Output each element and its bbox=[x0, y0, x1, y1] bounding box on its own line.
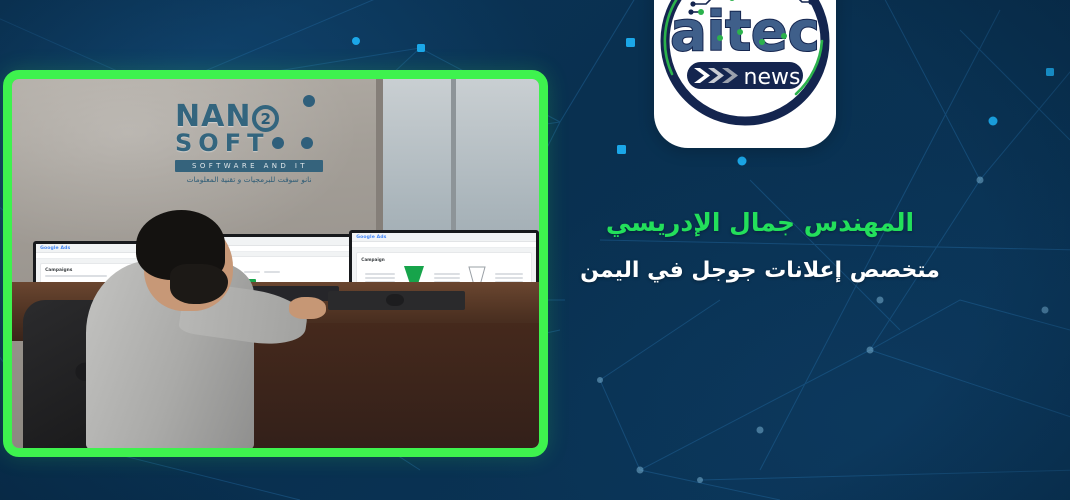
google-ads-logo-left: Google Ads bbox=[40, 246, 70, 251]
nano-soft-digit: 2 bbox=[260, 110, 270, 128]
presenter-subtitle: متخصص إعلانات جوجل في اليمن bbox=[560, 256, 960, 287]
aitec-wordmark: aitec bbox=[670, 0, 819, 63]
computer-mouse bbox=[386, 294, 404, 306]
nano-soft-wall-logo: NAN 2 SOFT SOFTWARE AND IT نانو سوفت للب… bbox=[175, 103, 325, 184]
headline-block: المهندس جمال الإدريسي متخصص إعلانات جوجل… bbox=[560, 206, 960, 287]
nano-soft-word-1: NAN bbox=[175, 103, 251, 131]
google-ads-logo-right: Google Ads bbox=[356, 235, 386, 240]
person-hand bbox=[289, 297, 326, 319]
aitec-news-logo: aitec news bbox=[654, 0, 836, 148]
promo-banner: NAN 2 SOFT SOFTWARE AND IT نانو سوفت للب… bbox=[0, 0, 1070, 500]
right-monitor-section: Campaign bbox=[361, 257, 527, 262]
office-photo: NAN 2 SOFT SOFTWARE AND IT نانو سوفت للب… bbox=[12, 79, 539, 448]
photo-frame: NAN 2 SOFT SOFTWARE AND IT نانو سوفت للب… bbox=[3, 70, 548, 457]
aitec-news-logo-badge[interactable]: aitec news bbox=[654, 0, 836, 148]
nano-soft-tagline-ar: نانو سوفت للبرمجيات و تقنية المعلومات bbox=[175, 175, 323, 184]
nano-soft-tagline-en: SOFTWARE AND IT bbox=[175, 160, 323, 172]
presenter-name: المهندس جمال الإدريسي bbox=[560, 206, 960, 240]
news-wordmark: news bbox=[744, 65, 801, 90]
